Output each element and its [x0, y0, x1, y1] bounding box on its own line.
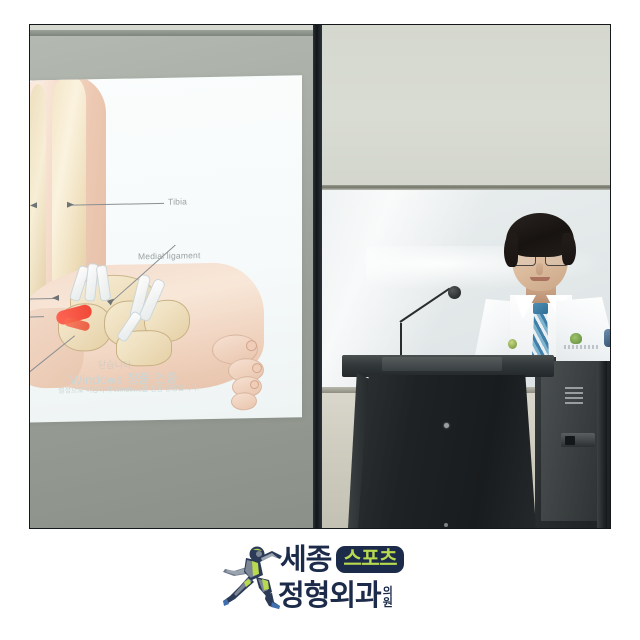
hair-left-side — [504, 233, 518, 267]
projection-screen: Tibia Medial ligament Windows 정품 인증 설정으로… — [30, 30, 315, 528]
rack-side-edge — [597, 353, 607, 528]
podium-screw-dot — [444, 523, 448, 527]
toe — [231, 392, 257, 410]
necktie-knot — [533, 303, 548, 314]
slide-label-tibia: Tibia — [168, 196, 187, 206]
screen-right-frame — [313, 25, 322, 528]
lapel-pin-icon — [508, 339, 517, 349]
presenter — [460, 211, 610, 371]
coat-shoulder-badge — [604, 329, 610, 347]
logo-clinic-suffix: 의 원 — [383, 587, 393, 610]
logo-sports-text: 스포츠 — [343, 546, 397, 570]
podium-ledge — [382, 357, 502, 371]
mouth — [530, 277, 550, 281]
logo-sports-pill: 스포츠 — [336, 546, 404, 573]
screen-top-frame — [30, 30, 322, 36]
logo-orthopedic-text: 정형외과 — [278, 581, 381, 610]
rack-vent-slots — [565, 387, 583, 389]
arrowhead-tibia — [67, 201, 74, 207]
rack-handle-recess — [565, 436, 575, 445]
presentation-slide: Tibia Medial ligament Windows 정품 인증 설정으로… — [30, 75, 302, 423]
logo-line-2: 정형외과 의 원 — [278, 576, 393, 610]
presentation-photo: Tibia Medial ligament Windows 정품 인증 설정으로… — [30, 25, 610, 528]
windows-watermark-overflow: 닫습니다 — [98, 358, 131, 371]
coat-embroidered-text — [564, 345, 598, 349]
necktie — [532, 307, 549, 357]
microphone-stem — [400, 323, 402, 357]
running-athlete-icon — [222, 544, 284, 610]
arrowhead-fibula — [30, 202, 37, 208]
podium-screw-dot — [444, 423, 449, 428]
arrowhead-left — [52, 294, 59, 300]
coat-emblem-icon — [570, 333, 582, 344]
podium — [348, 355, 548, 528]
coat-right-panel — [556, 297, 610, 361]
slide-label-medial-ligament: Medial ligament — [138, 250, 201, 261]
hair-right-side — [562, 233, 576, 265]
fibula-bone — [30, 84, 46, 314]
microphone-icon — [448, 286, 461, 299]
logo-line-1: 세종 스포츠 — [280, 542, 404, 576]
podium-front-panel — [358, 375, 536, 528]
clinic-logo: 세종 스포츠 정형외과 의 원 — [0, 532, 640, 640]
logo-sejong-text: 세종 — [280, 545, 331, 574]
logo-clinic-suffix-bottom: 원 — [383, 598, 393, 608]
